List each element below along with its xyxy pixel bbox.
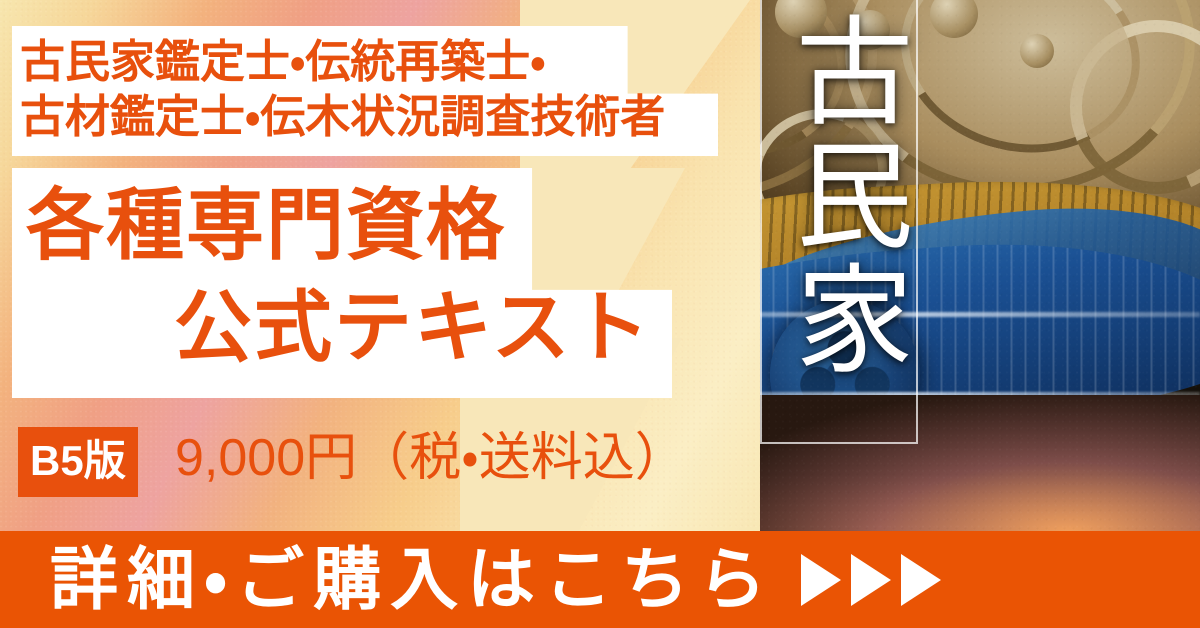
triangle-right-icon: [801, 554, 841, 606]
triangle-right-icon: [851, 554, 891, 606]
triangle-right-icon: [901, 554, 941, 606]
price-text: 9,000円（税・送料込）: [175, 432, 687, 484]
cover-title: 古民家: [768, 10, 910, 382]
cta-arrows: [801, 554, 941, 606]
headline-line-2: 公式テキスト: [174, 288, 652, 366]
format-badge: B5版: [18, 427, 138, 497]
cta-label: 詳細・ご購入はこちら: [50, 546, 775, 614]
headline-line-1: 各種専門資格: [26, 186, 506, 264]
cta-button[interactable]: 詳細・ご購入はこちら: [0, 531, 1200, 628]
promo-banner: 古民家 伝統構法 古民家活用のための調査と再生の 古民家鑑定士・伝統再築士・ 古…: [0, 0, 1200, 628]
qualifications-list: 古民家鑑定士・伝統再築士・ 古材鑑定士・伝木状況調査技術者: [20, 34, 720, 145]
carving-knob: [1020, 34, 1054, 68]
